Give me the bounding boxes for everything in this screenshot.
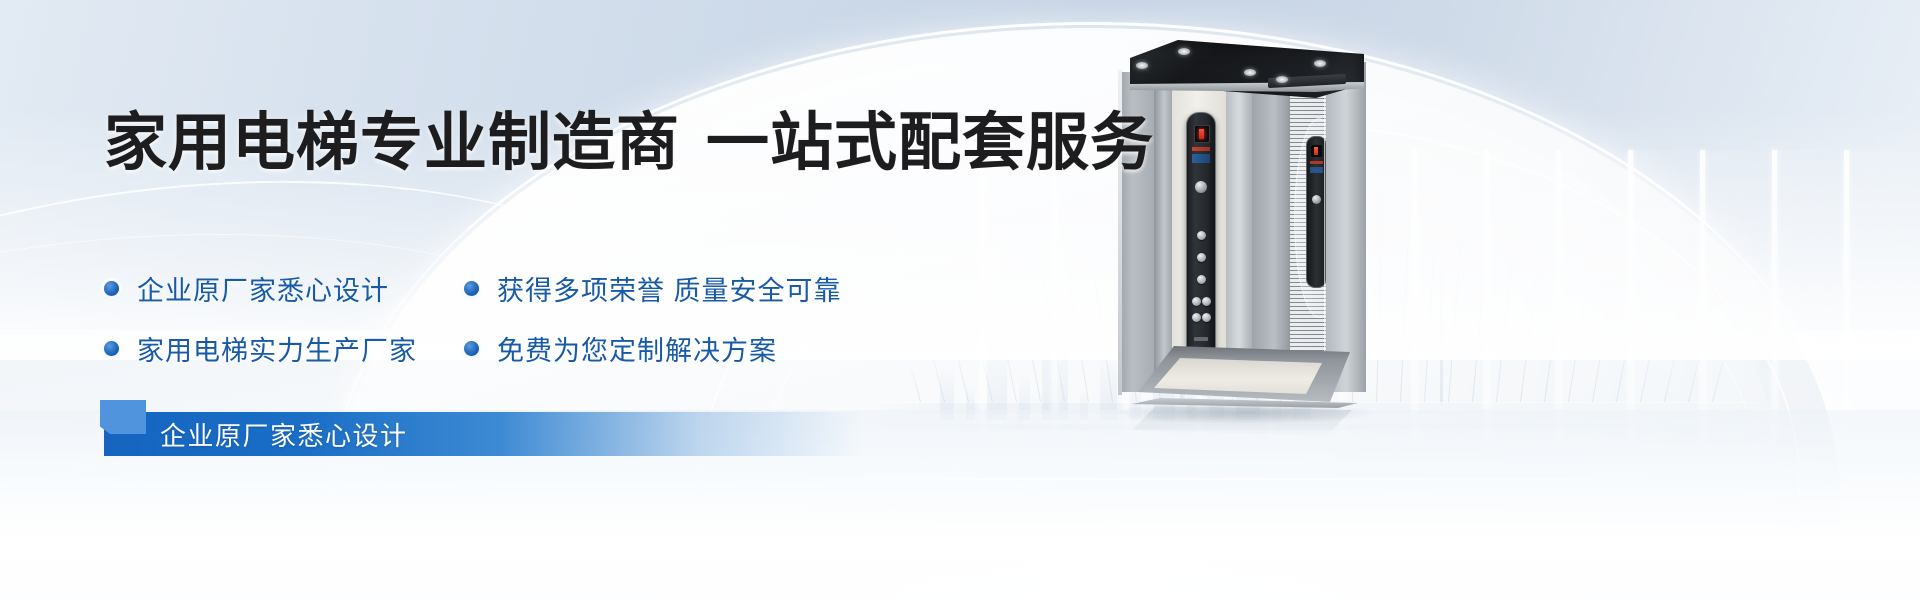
floor-button[interactable] bbox=[1197, 275, 1206, 284]
blue-dot-icon bbox=[464, 341, 479, 356]
feature-item: 免费为您定制解决方案 bbox=[464, 318, 884, 378]
elevator-panel-d bbox=[1252, 86, 1292, 382]
blue-dot-icon bbox=[104, 281, 119, 296]
home-elevator-image bbox=[1118, 40, 1366, 410]
feature-item: 企业原厂家悉心设计 bbox=[104, 258, 464, 318]
ceiling-spotlight-icon bbox=[1314, 60, 1326, 67]
emergency-button-secondary[interactable] bbox=[1312, 195, 1321, 204]
blue-dot-icon bbox=[464, 281, 479, 296]
ceiling-spotlight-icon bbox=[1276, 76, 1288, 83]
emergency-button[interactable] bbox=[1195, 181, 1207, 193]
headline-part-1: 家用电梯专业制造商 bbox=[104, 108, 680, 178]
floor-glow bbox=[0, 450, 1920, 600]
floor-display-secondary bbox=[1311, 145, 1322, 157]
ceiling-spotlight-icon bbox=[1136, 62, 1148, 69]
highlight-tag-label: 企业原厂家悉心设计 bbox=[160, 416, 408, 453]
brand-subtitle-mark bbox=[1192, 154, 1210, 163]
ribbon-flag-icon bbox=[100, 400, 146, 434]
brand-logo-mark-secondary bbox=[1310, 161, 1323, 164]
banner-headline: 家用电梯专业制造商一站式配套服务 bbox=[104, 112, 1154, 175]
feature-label: 免费为您定制解决方案 bbox=[497, 329, 777, 368]
ceiling-spotlight-icon bbox=[1178, 48, 1190, 55]
brand-logo-mark bbox=[1192, 147, 1210, 151]
ceiling-spotlight-icon bbox=[1244, 69, 1256, 76]
floor-button[interactable] bbox=[1197, 253, 1206, 262]
elevator-control-panel[interactable] bbox=[1186, 112, 1216, 364]
headline-part-2: 一站式配套服务 bbox=[706, 108, 1154, 178]
feature-label: 企业原厂家悉心设计 bbox=[137, 269, 389, 308]
feature-label: 家用电梯实力生产厂家 bbox=[137, 329, 417, 368]
feature-row: 企业原厂家悉心设计 获得多项荣誉 质量安全可靠 bbox=[104, 258, 924, 318]
feature-item: 家用电梯实力生产厂家 bbox=[104, 318, 464, 378]
elevator-right-wall bbox=[1326, 62, 1366, 392]
promo-banner: 家用电梯专业制造商一站式配套服务 企业原厂家悉心设计 获得多项荣誉 质量安全可靠… bbox=[0, 0, 1920, 600]
feature-label: 获得多项荣誉 质量安全可靠 bbox=[497, 269, 842, 308]
alarm-button[interactable] bbox=[1192, 313, 1201, 322]
blue-dot-icon bbox=[104, 341, 119, 356]
feature-item: 获得多项荣誉 质量安全可靠 bbox=[464, 258, 884, 318]
floor-button[interactable] bbox=[1197, 231, 1206, 240]
brand-subtitle-mark-secondary bbox=[1310, 167, 1323, 173]
floor-highlight-streak bbox=[760, 478, 1660, 480]
door-open-button[interactable] bbox=[1192, 297, 1201, 306]
door-close-button[interactable] bbox=[1202, 297, 1211, 306]
intercom-button[interactable] bbox=[1202, 313, 1211, 322]
elevator-floor-tile bbox=[1154, 358, 1322, 394]
feature-list: 企业原厂家悉心设计 获得多项荣誉 质量安全可靠 家用电梯实力生产厂家 免费为您定… bbox=[104, 258, 924, 378]
feature-row: 家用电梯实力生产厂家 免费为您定制解决方案 bbox=[104, 318, 924, 378]
panel-brand-plate bbox=[1194, 337, 1208, 341]
highlight-tag-bar[interactable]: 企业原厂家悉心设计 bbox=[104, 412, 864, 456]
floor-display bbox=[1194, 125, 1210, 143]
elevator-steel-strip bbox=[1154, 82, 1174, 386]
elevator-panel-c bbox=[1226, 84, 1252, 384]
